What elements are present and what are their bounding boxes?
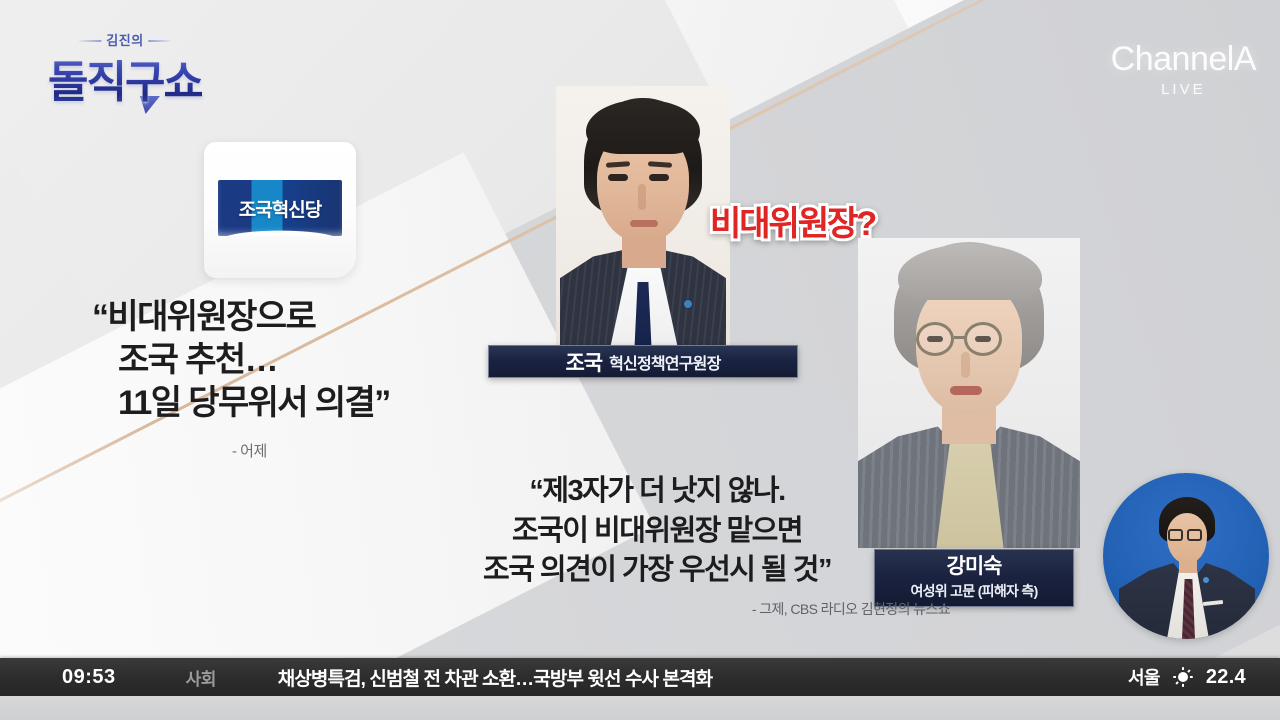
network-a-glyph: A <box>1234 40 1256 78</box>
party-logo-card: 조국혁신당 <box>204 142 356 278</box>
show-logo-title: 돌직구쇼 <box>48 46 202 110</box>
network-name: ChannelA <box>1111 40 1256 79</box>
sun-icon <box>1173 667 1193 687</box>
nameplate-cho-title: 혁신정책연구원장 <box>609 350 720 374</box>
network-watermark: ChannelA LIVE <box>1111 40 1256 98</box>
news-ticker-bar: 09:53 사회 채상병특검, 신범철 전 차관 소환…국방부 윗선 수사 본격… <box>0 658 1280 696</box>
photo-cho-kuk <box>556 86 730 356</box>
photo-cho-hair-front <box>586 100 700 154</box>
photo-kang-glasses-bridge <box>954 336 966 339</box>
weather-city: 서울 <box>1128 664 1160 690</box>
anchor-glasses-left-lens <box>1168 529 1183 541</box>
main-quote-line-1: “제3자가 더 낫지 않나. <box>352 472 962 512</box>
network-name-text: Channel <box>1111 40 1234 78</box>
left-quote-block: “비대위원장으로 조국 추천… 11일 당무위서 의결” - 어제 <box>92 296 512 461</box>
ticker-headline: 채상병특검, 신범철 전 차관 소환…국방부 윗선 수사 본격화 <box>278 664 712 691</box>
anchor-lapel-pin <box>1203 577 1209 583</box>
anchor-glasses-right-lens <box>1187 529 1202 541</box>
main-quote-block: “제3자가 더 낫지 않나. 조국이 비대위원장 맡으면 조국 의견이 가장 우… <box>352 472 962 619</box>
party-flag-banner: 조국혁신당 <box>218 180 342 236</box>
weather-temperature: 22.4 <box>1206 666 1246 689</box>
show-logo: 김진의 돌직구쇼 <box>44 30 206 108</box>
left-quote-line-1: “비대위원장으로 <box>92 296 512 339</box>
nameplate-cho-name: 조국 <box>565 347 602 377</box>
nameplate-cho-kuk: 조국 혁신정책연구원장 <box>488 345 798 378</box>
left-quote-line-2: 조국 추천… <box>92 339 512 382</box>
ticker-clock: 09:53 <box>62 666 116 689</box>
photo-kang-mouth <box>950 386 982 395</box>
photo-cho-eye-right <box>649 174 669 181</box>
left-quote-line-3: 11일 당무위서 의결” <box>92 382 512 425</box>
sun-core <box>1178 672 1188 682</box>
photo-kang-glasses-left-lens <box>916 322 954 356</box>
ticker-category: 사회 <box>186 665 216 690</box>
ticker-weather: 서울 22.4 <box>1128 664 1246 690</box>
bottom-letterbox-strip <box>0 696 1280 720</box>
photo-cho-nose <box>638 184 646 210</box>
main-quote-source: - 그제, CBS 라디오 김현정의 뉴스쇼 <box>352 599 962 619</box>
photo-cho-lapel-pin <box>684 300 692 308</box>
photo-kang-nose <box>961 352 970 378</box>
photo-kang-glasses-right-lens <box>964 322 1002 356</box>
main-quote-line-3: 조국 의견이 가장 우선시 될 것” <box>352 551 962 591</box>
party-name-label: 조국혁신당 <box>239 195 321 222</box>
photo-cho-mouth <box>630 220 658 227</box>
live-badge: LIVE <box>1111 81 1256 98</box>
main-quote-line-2: 조국이 비대위원장 맡으면 <box>352 512 962 552</box>
red-callout-text: 비대위원장? <box>710 196 875 245</box>
photo-cho-eye-left <box>608 174 628 181</box>
left-quote-source: - 어제 <box>92 440 512 461</box>
anchor-pip-circle <box>1103 473 1269 639</box>
broadcast-screen: 김진의 돌직구쇼 ChannelA LIVE 조국혁신당 “비대위원장으로 조국… <box>0 0 1280 720</box>
